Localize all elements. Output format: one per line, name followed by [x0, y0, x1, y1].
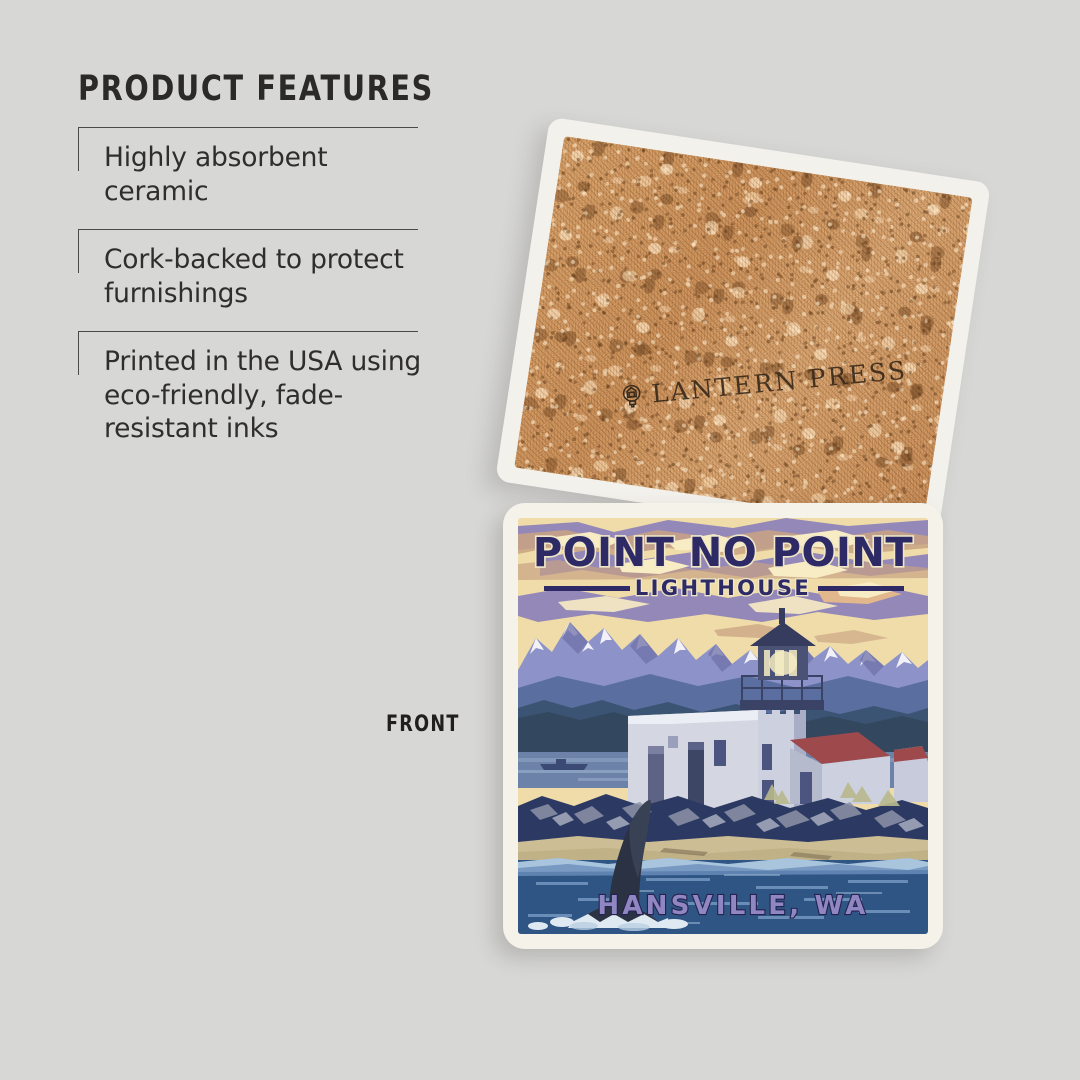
- feature-divider: [78, 229, 418, 230]
- feature-text: Cork-backed to protect furnishings: [104, 229, 428, 311]
- poster-artwork: POINT NO POINT LIGHTHOUSE HANSVILLE, WA: [518, 518, 928, 934]
- feature-item-3: Printed in the USA using eco-friendly, f…: [78, 331, 428, 447]
- callout-label-front: FRONT: [386, 712, 460, 737]
- subtitle-rule-left: [544, 586, 630, 591]
- poster-title: POINT NO POINT: [533, 530, 913, 576]
- page-title: PRODUCT FEATURES: [78, 72, 365, 107]
- cork-speckle-texture: [514, 136, 972, 529]
- feature-text: Highly absorbent ceramic: [104, 127, 428, 209]
- poster-subtitle: LIGHTHOUSE: [635, 576, 811, 600]
- poster-svg: POINT NO POINT LIGHTHOUSE HANSVILLE, WA: [518, 518, 928, 934]
- coaster-front: POINT NO POINT LIGHTHOUSE HANSVILLE, WA: [503, 503, 943, 949]
- feature-item-1: Highly absorbent ceramic: [78, 127, 428, 209]
- cork-surface: LANTERN PRESS: [514, 136, 972, 529]
- poster-city: HANSVILLE, WA: [597, 891, 868, 921]
- subtitle-rule-right: [818, 586, 904, 591]
- feature-tick: [78, 127, 79, 171]
- feature-tick: [78, 229, 79, 273]
- product-features-panel: PRODUCT FEATURES Highly absorbent cerami…: [78, 72, 428, 446]
- feature-tick: [78, 331, 79, 375]
- feature-divider: [78, 127, 418, 128]
- feature-divider: [78, 331, 418, 332]
- feature-item-2: Cork-backed to protect furnishings: [78, 229, 428, 311]
- feature-text: Printed in the USA using eco-friendly, f…: [104, 331, 428, 447]
- coaster-back: LANTERN PRESS: [495, 117, 991, 548]
- lantern-icon: [620, 381, 644, 409]
